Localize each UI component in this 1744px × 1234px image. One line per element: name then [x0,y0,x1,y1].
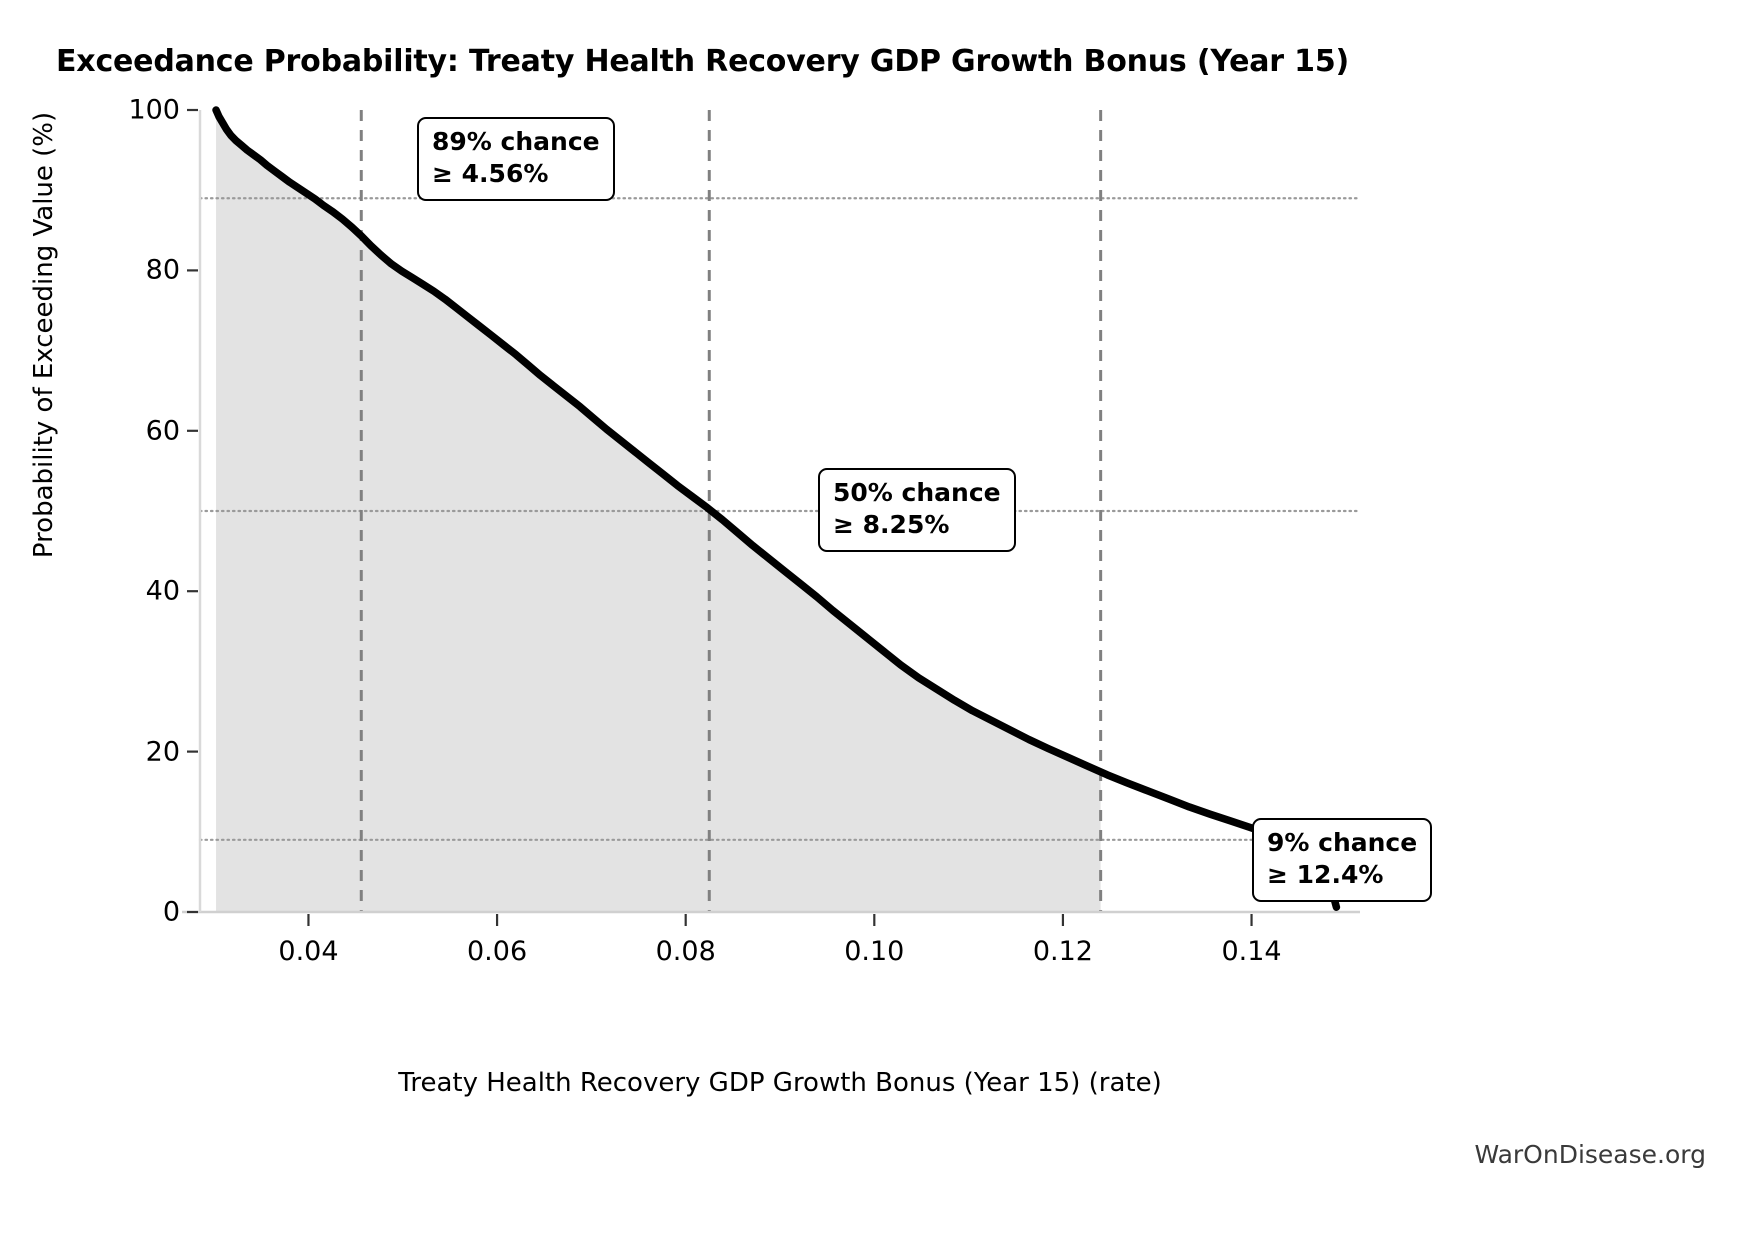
annotation-p89: 89% chance≥ 4.56% [417,117,615,201]
x-tick-label-0.08: 0.08 [656,936,716,967]
annotation-p50: 50% chance≥ 8.25% [818,468,1016,552]
x-tick-label-0.12: 0.12 [1033,936,1093,967]
annotation-p9-threshold: ≥ 12.4% [1267,859,1417,891]
x-tick-label-0.14: 0.14 [1221,936,1281,967]
y-tick-label-20: 20 [50,736,180,767]
x-tick-label-0.06: 0.06 [467,936,527,967]
y-tick-label-0: 0 [50,897,180,928]
y-tick-label-60: 60 [50,415,180,446]
x-tick-label-0.04: 0.04 [278,936,338,967]
y-tick-label-80: 80 [50,255,180,286]
footer-watermark: WarOnDisease.org [1474,1140,1706,1169]
annotation-p89-threshold: ≥ 4.56% [432,158,600,190]
y-tick-label-40: 40 [50,576,180,607]
annotation-p50-chance: 50% chance [833,477,1001,509]
x-axis-label: Treaty Health Recovery GDP Growth Bonus … [200,1068,1360,1098]
y-axis-label: Probability of Exceeding Value (%) [29,95,59,575]
x-tick-label-0.10: 0.10 [844,936,904,967]
plot-area [0,0,1744,1234]
annotation-p9-chance: 9% chance [1267,827,1417,859]
annotation-p89-chance: 89% chance [432,126,600,158]
chart-figure: Exceedance Probability: Treaty Health Re… [0,0,1744,1234]
y-tick-label-100: 100 [50,95,180,126]
annotation-p50-threshold: ≥ 8.25% [833,509,1001,541]
annotation-p9: 9% chance≥ 12.4% [1252,818,1432,902]
